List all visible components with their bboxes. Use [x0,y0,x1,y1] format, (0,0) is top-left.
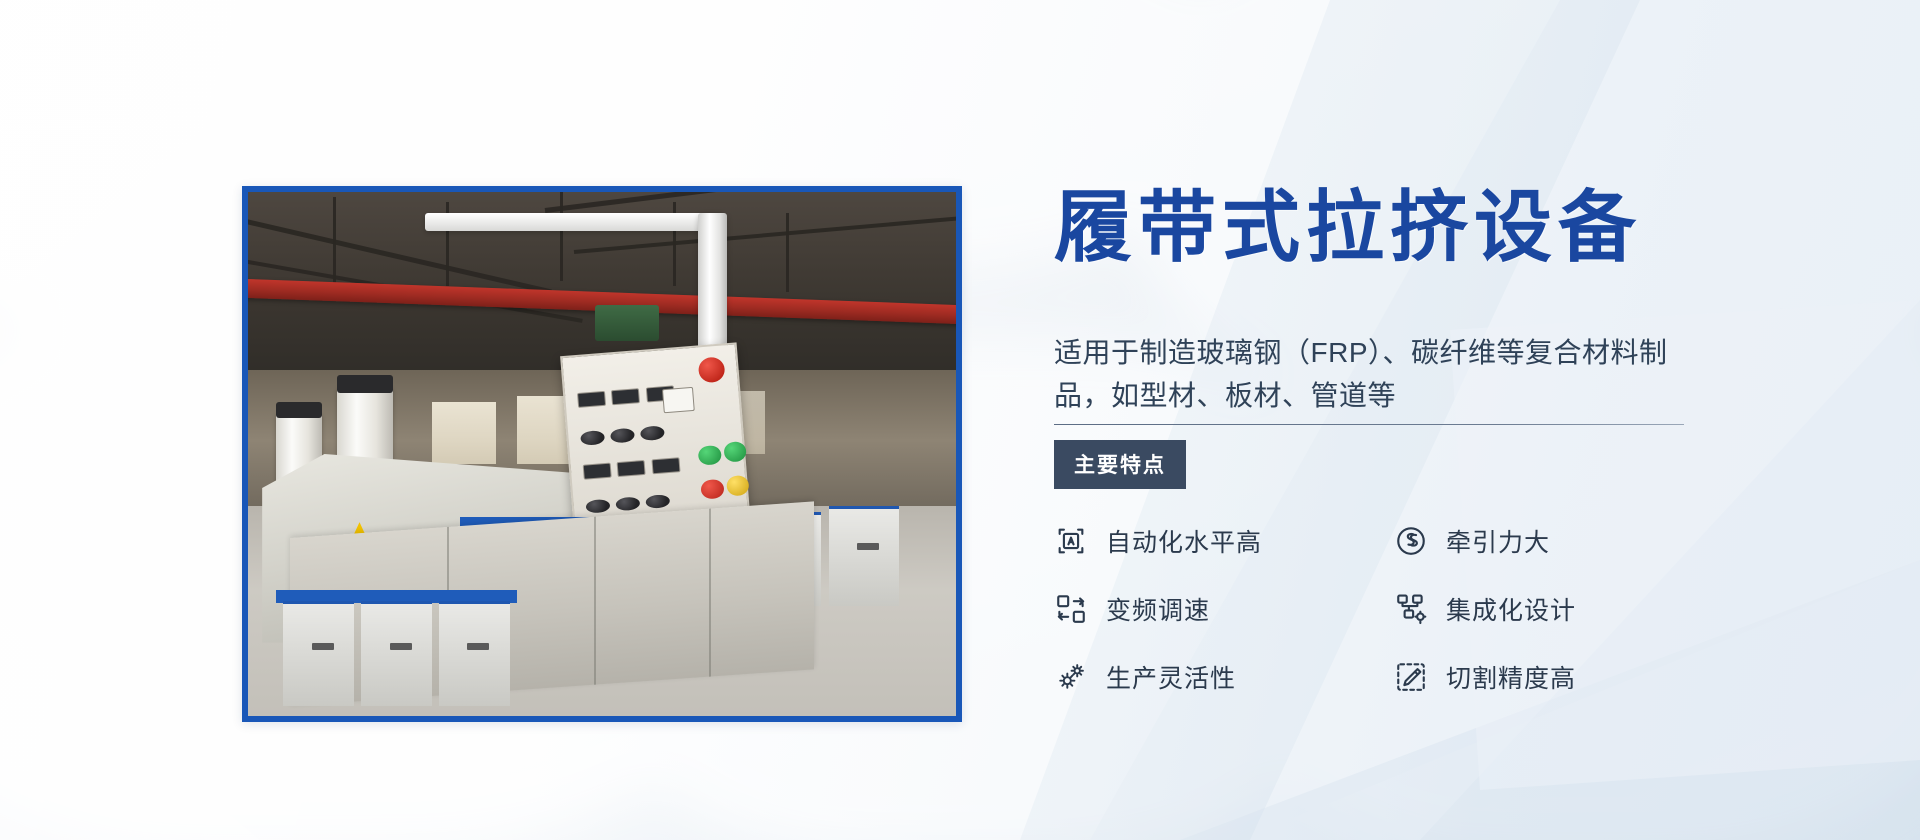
feature-label: 牵引力大 [1446,523,1550,559]
product-photo [242,186,962,722]
status-badge: 主要特点 [1054,440,1186,489]
feature-label: 变频调速 [1106,591,1210,627]
feature-list: 自动化水平高 牵引力大 [1054,520,1694,698]
gears-icon [1054,660,1088,694]
subtitle-text: 适用于制造玻璃钢（FRP）、碳纤维等复合材料制品，如型材、板材、管道等 [1054,332,1674,417]
feature-item: 生产灵活性 [1054,656,1354,698]
feature-label: 生产灵活性 [1106,659,1236,695]
letter-a-frame-icon [1054,524,1088,558]
feature-item: 自动化水平高 [1054,520,1354,562]
swap-transfer-icon [1054,592,1088,626]
feature-label: 集成化设计 [1446,591,1576,627]
feature-item: 切割精度高 [1394,656,1694,698]
feature-label: 自动化水平高 [1106,523,1262,559]
feature-item: 牵引力大 [1394,520,1694,562]
pen-precision-icon [1394,660,1428,694]
divider [1054,424,1684,425]
feature-label: 切割精度高 [1446,659,1576,695]
sitemap-gear-icon [1394,592,1428,626]
traction-waves-icon [1394,524,1428,558]
banner-content: 履带式拉挤设备 适用于制造玻璃钢（FRP）、碳纤维等复合材料制品，如型材、板材、… [1040,0,1900,840]
feature-item: 集成化设计 [1394,588,1694,630]
product-banner: 履带式拉挤设备 适用于制造玻璃钢（FRP）、碳纤维等复合材料制品，如型材、板材、… [0,0,1920,840]
page-title: 履带式拉挤设备 [1054,188,1642,266]
feature-item: 变频调速 [1054,588,1354,630]
